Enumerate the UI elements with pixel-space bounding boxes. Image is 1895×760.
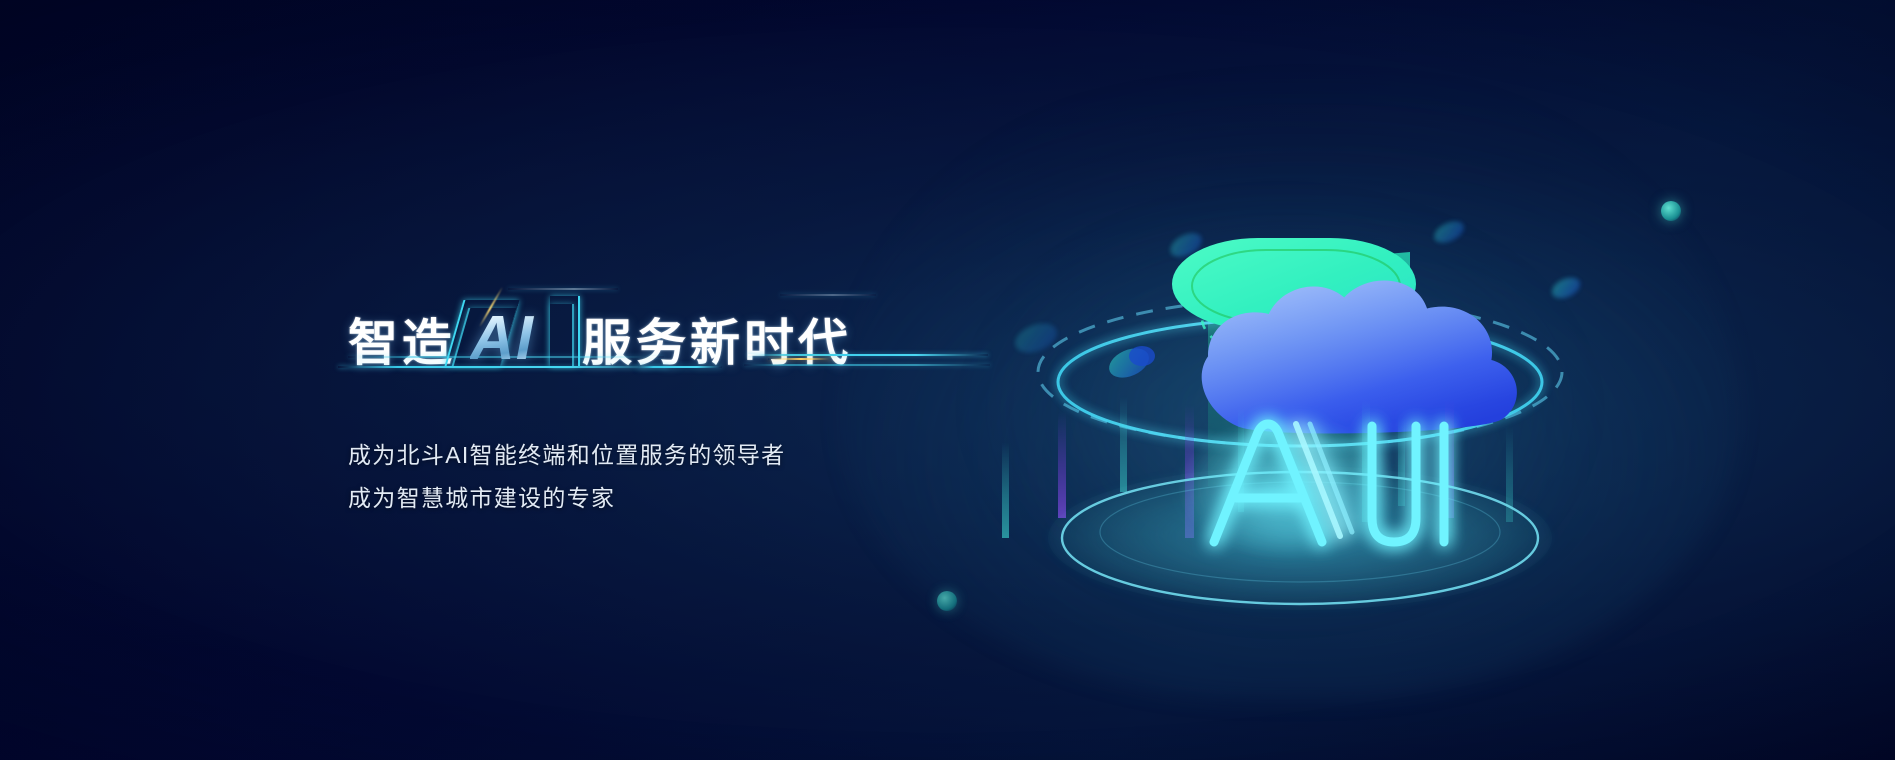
ai-logo-bracket-right <box>550 304 574 366</box>
glow-dot-left <box>937 591 957 611</box>
hero-banner: 智造 AI 服务新时代 成为北斗AI智能终端和位置服务的领导者 成为智慧城市建设… <box>0 0 1895 760</box>
headline-diagonal-deco <box>637 366 723 368</box>
subtitle-line-2: 成为智慧城市建设的专家 <box>348 477 948 520</box>
headline-underline-deco <box>744 364 990 366</box>
headline-underline-deco <box>748 354 988 356</box>
hero-subtitle: 成为北斗AI智能终端和位置服务的领导者 成为智慧城市建设的专家 <box>348 434 948 520</box>
ai-logo-text: AI <box>470 308 534 370</box>
glow-dot-right <box>1661 201 1681 221</box>
headline-gold-deco <box>768 358 834 360</box>
headline-left-text: 智造 <box>348 318 456 368</box>
page-title: 智造 AI 服务新时代 <box>348 296 948 368</box>
subtitle-line-1: 成为北斗AI智能终端和位置服务的领导者 <box>348 434 948 477</box>
headline-right-text: 服务新时代 <box>582 318 852 368</box>
headline-highlight-deco <box>508 288 618 290</box>
ai-cloud-platform-illustration <box>1000 150 1620 670</box>
hero-text-block: 智造 AI 服务新时代 成为北斗AI智能终端和位置服务的领导者 成为智慧城市建设… <box>348 296 948 520</box>
headline-highlight-deco <box>780 294 876 296</box>
ai-logo-mark: AI <box>462 296 578 368</box>
